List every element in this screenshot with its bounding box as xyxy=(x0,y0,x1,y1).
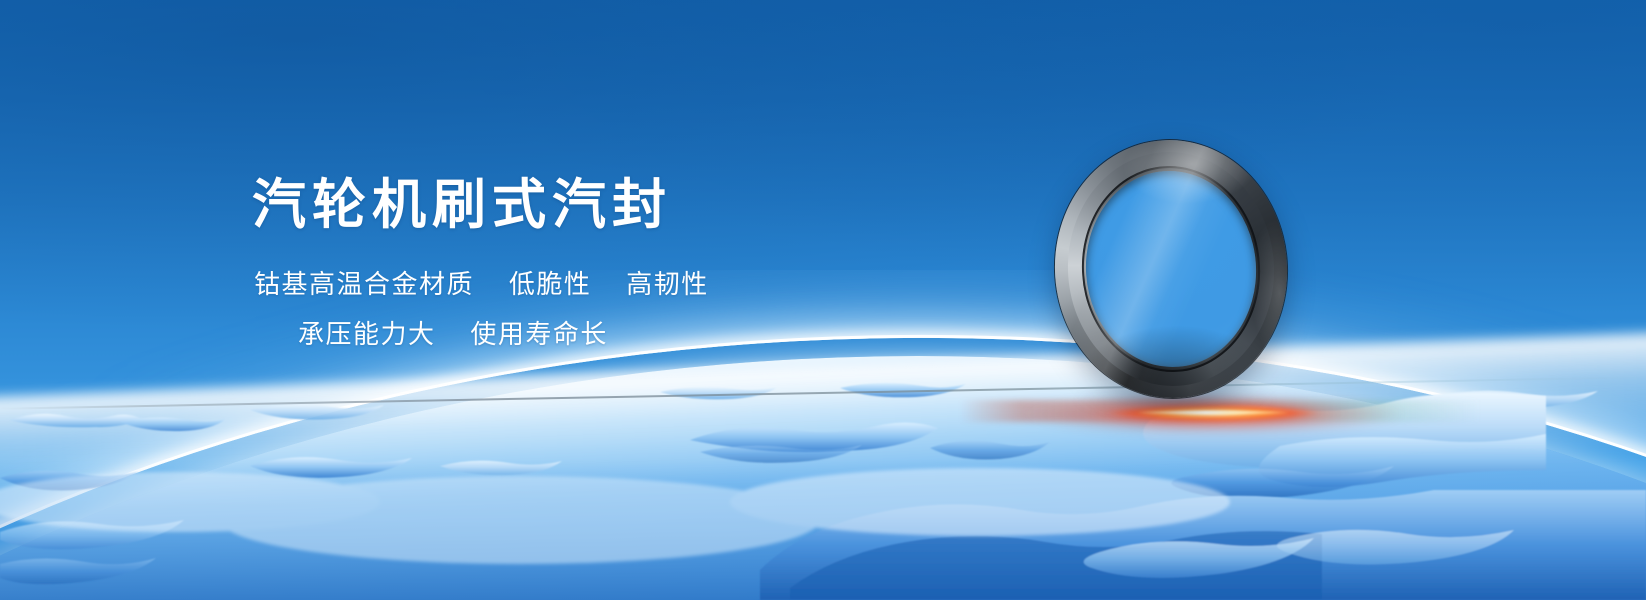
product-hero-banner: 汽轮机刷式汽封 钴基高温合金材质 低脆性 高韧性 承压能力大 使用寿命长 xyxy=(0,0,1646,600)
banner-heading: 汽轮机刷式汽封 xyxy=(252,178,672,232)
brush-seal-ring-product-image xyxy=(1046,132,1295,406)
earth-horizon xyxy=(0,270,1646,600)
globe-surface xyxy=(0,278,1646,600)
